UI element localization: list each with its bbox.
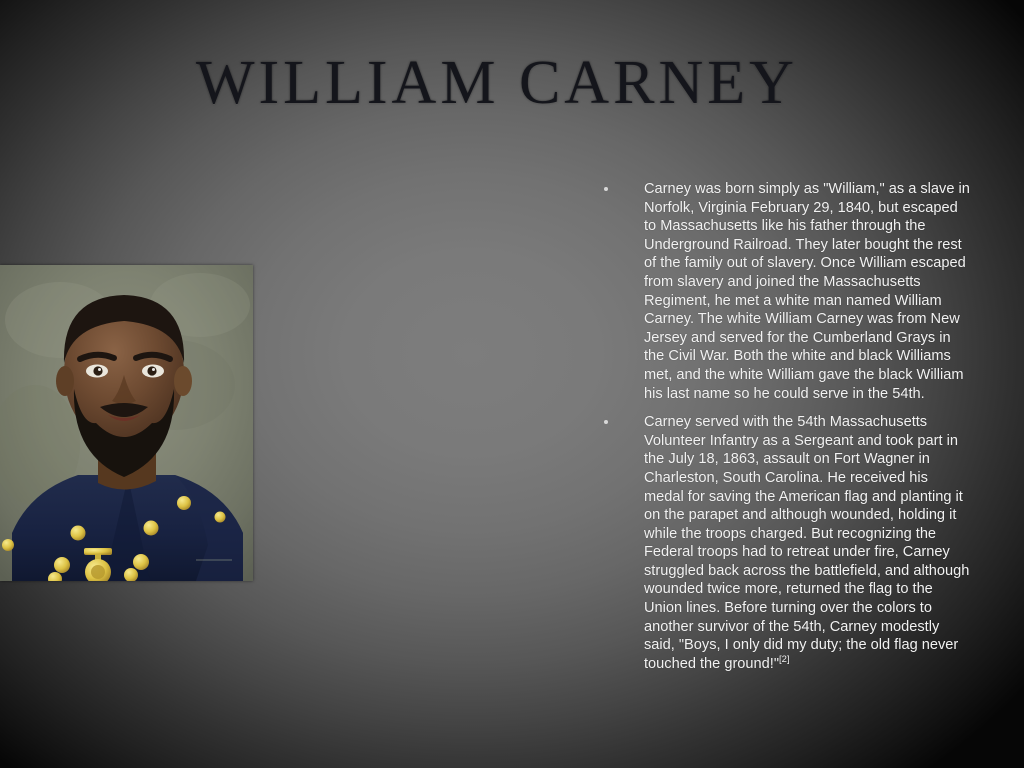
square-bullet-icon bbox=[604, 420, 608, 424]
citation-ref: [2] bbox=[779, 654, 790, 665]
square-bullet-icon bbox=[604, 187, 608, 191]
list-item-label: Carney served with the 54th Massachusett… bbox=[644, 413, 970, 673]
presentation-slide: WILLIAM CARNEY bbox=[0, 0, 1024, 768]
portrait-image bbox=[0, 265, 253, 581]
content-text-block: Carney was born simply as "William," as … bbox=[598, 180, 970, 683]
page-title: WILLIAM CARNEY bbox=[196, 52, 896, 114]
list-item-label: Carney was born simply as "William," as … bbox=[644, 180, 970, 403]
list-item: Carney served with the 54th Massachusett… bbox=[598, 413, 970, 673]
list-item: Carney was born simply as "William," as … bbox=[598, 180, 970, 403]
portrait-illustration bbox=[0, 265, 253, 581]
